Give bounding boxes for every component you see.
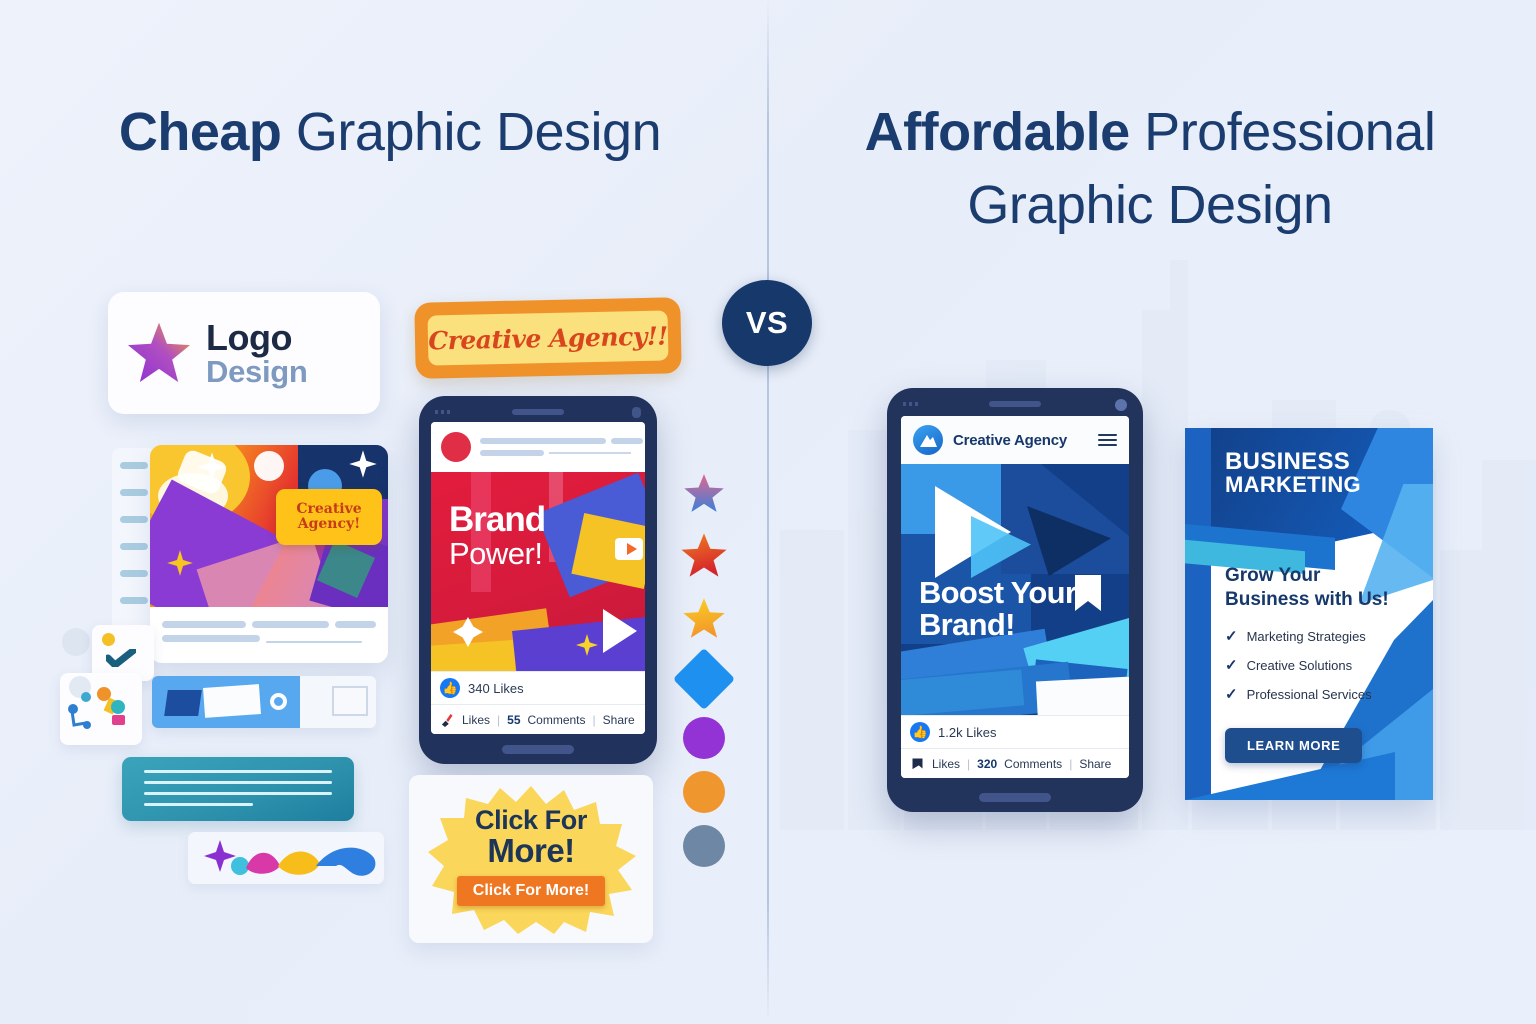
likes-count: 1.2k Likes: [938, 725, 997, 740]
burst-line-1: Click For: [475, 807, 587, 834]
phone-home-bar: [979, 793, 1051, 802]
yellow-dot-icon: [102, 633, 115, 646]
list-item: ✓ Marketing Strategies: [1225, 627, 1415, 645]
bubble-line-2: Agency!: [298, 517, 361, 532]
sparkle-icon: [196, 451, 228, 483]
separator: |: [497, 713, 500, 727]
likes-row: 👍 340 Likes: [431, 671, 645, 704]
confetti-shapes: [60, 673, 142, 745]
sparkle-icon: [348, 449, 378, 479]
list-item: ✓ Creative Solutions: [1225, 656, 1415, 674]
post-header: [431, 422, 645, 472]
camera-shape-icon: [332, 686, 368, 716]
poster-title: BUSINESS MARKETING: [1225, 450, 1361, 497]
colorful-content-card: Creative Agency!: [150, 445, 388, 663]
check-icon: ✓: [1225, 627, 1238, 645]
learn-more-button[interactable]: LEARN MORE: [1225, 728, 1362, 763]
phone-camera-icon: [1115, 399, 1127, 411]
likes-count: 340 Likes: [468, 681, 524, 696]
click-for-more-button[interactable]: Click For More!: [457, 876, 605, 906]
circle-slate-icon: [683, 825, 725, 867]
poster-subtitle-line1: Grow Your: [1225, 564, 1415, 588]
list-item: ✓ Professional Services: [1225, 685, 1415, 703]
star-pink-blue-icon: [682, 472, 726, 514]
colorful-swoosh-card: [188, 832, 384, 884]
ribbon-inner: Creative Agency!!: [428, 310, 669, 365]
action-likes-label[interactable]: Likes: [932, 757, 960, 771]
burst-line-2: More!: [475, 834, 587, 867]
hamburger-menu-icon[interactable]: [1098, 434, 1117, 447]
cheap-phone-mockup: Brand Power! 👍 340 Likes Likes | 55 Comm…: [419, 396, 657, 764]
phone-sensor-dots: [903, 402, 921, 406]
click-for-more-card: Click For More! Click For More!: [409, 775, 653, 943]
action-share-label[interactable]: Share: [603, 713, 635, 727]
phone-speaker: [512, 409, 564, 415]
vs-label: VS: [746, 305, 788, 341]
app-name: Creative Agency: [953, 432, 1088, 449]
sparkle-icon: [166, 549, 194, 577]
likes-row: 👍 1.2k Likes: [901, 715, 1129, 748]
brand-headline-line2: Power!: [449, 538, 545, 570]
app-header: Creative Agency: [901, 416, 1129, 464]
left-panel-title: Cheap Graphic Design: [40, 96, 740, 169]
messy-artwork: Creative Agency!: [150, 445, 388, 607]
circle-purple-icon: [683, 717, 725, 759]
creative-agency-speech-bubble: Creative Agency!: [276, 489, 382, 545]
like-thumb-icon: 👍: [910, 722, 930, 742]
swoosh-graphic: [188, 832, 384, 884]
diamond-blue-icon: [673, 648, 735, 710]
comments-count: 55: [507, 713, 520, 727]
cheap-phone-screen: Brand Power! 👍 340 Likes Likes | 55 Comm…: [431, 422, 645, 734]
star-red-orange-icon: [678, 531, 730, 579]
poster-body: Grow Your Business with Us! ✓ Marketing …: [1225, 564, 1415, 763]
logo-wordmark: Logo Design: [206, 320, 308, 387]
like-thumb-icon: 👍: [440, 678, 460, 698]
gradient-star-icon: [126, 320, 192, 386]
action-likes-label[interactable]: Likes: [462, 713, 490, 727]
sparkle-icon: [575, 633, 599, 657]
separator: |: [967, 757, 970, 771]
action-comments-label[interactable]: Comments: [1004, 757, 1062, 771]
poster-title-line1: BUSINESS: [1225, 450, 1361, 474]
professional-phone-mockup: Creative Agency: [887, 388, 1143, 812]
phone-home-bar: [502, 745, 574, 754]
boost-headline: Boost Your Brand!: [919, 577, 1076, 641]
check-icon: [106, 649, 136, 667]
card-placeholder-text: [150, 607, 388, 663]
starburst: Click For More! Click For More!: [426, 784, 636, 934]
logo-line-1: Logo: [206, 320, 308, 356]
blue-banner-widget: [152, 676, 376, 728]
infographic-canvas: Cheap Graphic Design Affordable Professi…: [0, 0, 1536, 1024]
brand-headline-line1: Brand: [449, 502, 545, 538]
left-title-lead: Cheap: [119, 102, 296, 162]
decorative-circle: [62, 628, 90, 656]
check-icon: ✓: [1225, 685, 1238, 703]
star-yellow-icon: [681, 596, 727, 640]
poster-subtitle-line2: Business with Us!: [1225, 588, 1415, 612]
teal-text-block: [122, 757, 354, 821]
avatar: [441, 432, 471, 462]
bubble-line-1: Creative: [296, 502, 361, 517]
bullet-label: Marketing Strategies: [1247, 629, 1366, 644]
post-action-row: Likes | 55 Comments | Share: [431, 704, 645, 734]
like-hand-icon: [910, 756, 925, 771]
confetti-mini-card: [60, 673, 142, 745]
check-icon: ✓: [1225, 656, 1238, 674]
ribbon-label: Creative Agency!!: [428, 321, 668, 355]
boost-brand-artwork: Boost Your Brand!: [901, 464, 1129, 715]
poster-subtitle: Grow Your Business with Us!: [1225, 564, 1415, 611]
vs-badge: VS: [722, 280, 812, 366]
brand-headline: Brand Power!: [449, 502, 545, 569]
boost-headline-line2: Brand!: [919, 609, 1076, 641]
action-comments-label[interactable]: Comments: [528, 713, 586, 727]
separator: |: [1069, 757, 1072, 771]
phone-speaker: [989, 401, 1041, 407]
logo-line-2: Design: [206, 356, 308, 387]
creative-agency-logo-icon: [913, 425, 943, 455]
post-action-row: Likes | 320 Comments | Share: [901, 748, 1129, 778]
phone-camera-icon: [632, 407, 641, 418]
business-marketing-poster: BUSINESS MARKETING Grow Your Business wi…: [1185, 428, 1433, 800]
phone-sensor-dots: [435, 410, 453, 414]
separator: |: [593, 713, 596, 727]
logo-design-card: Logo Design: [108, 292, 380, 414]
right-panel-title: Affordable Professional Graphic Design: [800, 96, 1500, 242]
bookmark-icon[interactable]: [1073, 574, 1103, 612]
action-share-label[interactable]: Share: [1079, 757, 1111, 771]
boost-headline-line1: Boost Your: [919, 577, 1076, 609]
right-title-lead: Affordable: [865, 102, 1145, 162]
burst-text: Click For More!: [475, 807, 587, 867]
poster-bullet-list: ✓ Marketing Strategies ✓ Creative Soluti…: [1225, 627, 1415, 703]
circle-orange-icon: [683, 771, 725, 813]
creative-agency-ribbon: Creative Agency!!: [414, 297, 682, 379]
comments-count: 320: [977, 757, 997, 771]
poster-title-line2: MARKETING: [1225, 474, 1361, 496]
like-hand-icon: [440, 712, 455, 727]
bullet-label: Professional Services: [1247, 687, 1372, 702]
left-title-rest: Graphic Design: [296, 102, 661, 162]
brand-power-artwork: Brand Power!: [431, 472, 645, 671]
decorative-shape-column: [678, 472, 732, 879]
professional-phone-screen: Creative Agency: [901, 416, 1129, 778]
bullet-label: Creative Solutions: [1247, 658, 1353, 673]
panel-divider: [767, 0, 769, 1024]
